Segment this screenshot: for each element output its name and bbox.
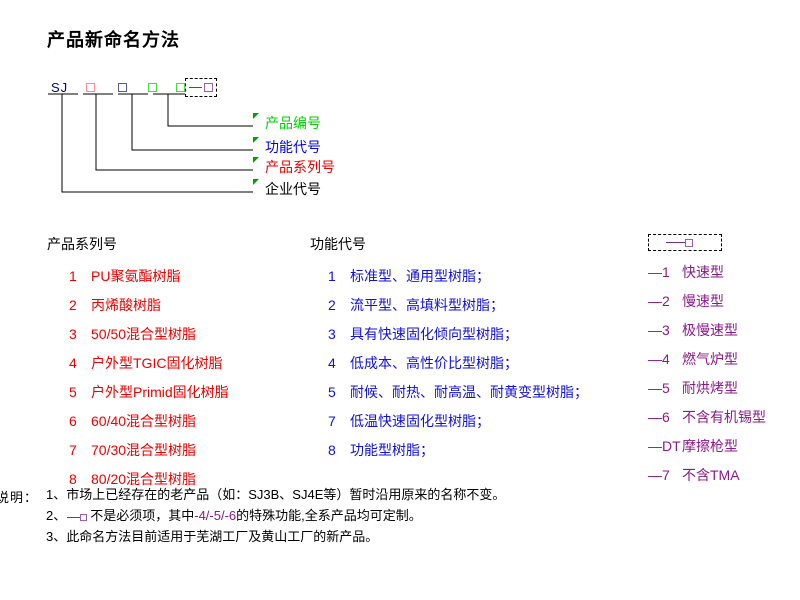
item-number: 1 [69,268,91,284]
list-item: —6 不含有机锡型 [648,407,766,436]
optional-list: —1 快速型 —2 慢速型 —3 极慢速型 —4 燃气炉型 —5 耐烘烤型 —6… [648,262,766,494]
column-product-series: 产品系列号 1 PU聚氨酯树脂 2 丙烯酸树脂 3 50/50混合型树脂 4 户… [47,234,229,498]
leader-label-product-series: 产品系列号 [265,157,335,177]
leader-label-enterprise-code: 企业代号 [265,179,321,199]
footnote-text: 不是必须项，其中 [90,508,194,523]
footnote-text-tail: 的特殊功能,全系产品均可定制。 [236,508,422,523]
item-text: 不含TMA [682,465,740,485]
item-text: 70/30混合型树脂 [91,440,196,460]
item-text: 户外型Primid固化树脂 [91,382,229,402]
item-text: PU聚氨酯树脂 [91,266,180,286]
list-item: 4 户外型TGIC固化树脂 [47,353,229,382]
item-text: 不含有机锡型 [682,407,766,427]
list-item: —5 耐烘烤型 [648,378,766,407]
product-no-slot-2 [176,83,185,92]
item-text: 极慢速型 [682,320,738,340]
list-item: 5 耐候、耐热、耐高温、耐黄变型树脂； [310,382,588,411]
item-number: 7 [69,442,91,458]
item-number: —5 [648,380,682,396]
item-text: 低温快速固化型树脂； [350,411,490,431]
item-number: 6 [69,413,91,429]
optional-slot [204,83,213,92]
column-header-optional-symbol [648,234,722,251]
series-list: 1 PU聚氨酯树脂 2 丙烯酸树脂 3 50/50混合型树脂 4 户外型TGIC… [47,266,229,498]
item-text: 耐候、耐热、耐高温、耐黄变型树脂； [350,382,588,402]
product-no-slot-1 [148,83,157,92]
item-number: —2 [648,293,682,309]
item-text: 功能型树脂； [350,440,434,460]
list-item: —DT 摩擦枪型 [648,436,766,465]
flag-marker-icon [253,157,259,163]
list-item: 2 流平型、高填料型树脂； [310,295,588,324]
column-header-function-code: 功能代号 [310,234,588,254]
list-item: 7 70/30混合型树脂 [47,440,229,469]
footnote-row: 2、不是必须项，其中-4/-5/-6的特殊功能,全系产品均可定制。 [46,505,800,526]
dash-mark [666,242,685,243]
item-text: 标准型、通用型树脂； [350,266,490,286]
item-number: —7 [648,467,682,483]
footnote-highlight: -4/-5/-6 [194,508,236,523]
footnote-text: 市场上已经存在的老产品（如：SJ3B、SJ4E等）暂时沿用原来的名称不变。 [66,487,505,502]
dash-mark [189,87,202,88]
item-text: 户外型TGIC固化树脂 [91,353,222,373]
item-text: 50/50混合型树脂 [91,324,196,344]
list-item: 1 标准型、通用型树脂； [310,266,588,295]
item-text: 耐烘烤型 [682,378,738,398]
flag-marker-icon [253,179,259,185]
item-number: —3 [648,322,682,338]
optional-slot-frame [185,78,217,97]
list-item: —2 慢速型 [648,291,766,320]
item-text: 60/40混合型树脂 [91,411,196,431]
footnote-row: 3、此命名方法目前适用于芜湖工厂及黄山工厂的新产品。 [46,526,800,547]
leader-label-function-code: 功能代号 [265,137,321,157]
list-item: 6 60/40混合型树脂 [47,411,229,440]
item-text: 快速型 [682,262,724,282]
item-text: 摩擦枪型 [682,436,738,456]
list-item: 5 户外型Primid固化树脂 [47,382,229,411]
list-item: 7 低温快速固化型树脂； [310,411,588,440]
column-optional-suffix: —1 快速型 —2 慢速型 —3 极慢速型 —4 燃气炉型 —5 耐烘烤型 —6… [648,234,766,494]
footnote-number: 3、 [46,529,66,544]
list-item: 4 低成本、高性价比型树脂； [310,353,588,382]
item-text: 低成本、高性价比型树脂； [350,353,518,373]
list-item: 8 功能型树脂； [310,440,588,469]
item-text: 具有快速固化倾向型树脂； [350,324,518,344]
list-item: 1 PU聚氨酯树脂 [47,266,229,295]
footnote-row: 1、市场上已经存在的老产品（如：SJ3B、SJ4E等）暂时沿用原来的名称不变。 [46,484,800,505]
item-number: —1 [648,264,682,280]
item-number: 2 [69,297,91,313]
dash-square-icon [67,512,89,522]
list-item: 2 丙烯酸树脂 [47,295,229,324]
item-number: 3 [328,326,350,342]
optional-slot-mini [685,239,693,247]
item-text: 燃气炉型 [682,349,738,369]
item-number: 1 [328,268,350,284]
series-slot [86,83,95,92]
naming-structure-diagram: SJ 产品编号 功能代号 产品系列号 企业代号 [0,0,800,220]
item-number: 5 [69,384,91,400]
footnotes-label: 说明： [0,487,38,506]
flag-marker-icon [253,137,259,143]
footnotes-list: 1、市场上已经存在的老产品（如：SJ3B、SJ4E等）暂时沿用原来的名称不变。 … [46,484,800,547]
item-number: 7 [328,413,350,429]
footnote-number: 2、 [46,508,66,523]
list-item: —4 燃气炉型 [648,349,766,378]
flag-marker-icon [253,113,259,119]
connector-lines [0,0,800,220]
list-item: 3 50/50混合型树脂 [47,324,229,353]
item-number: 2 [328,297,350,313]
item-number: 3 [69,326,91,342]
column-header-product-series: 产品系列号 [47,234,229,254]
item-text: 慢速型 [682,291,724,311]
list-item: 3 具有快速固化倾向型树脂； [310,324,588,353]
list-item: —1 快速型 [648,262,766,291]
footnote-text: 此命名方法目前适用于芜湖工厂及黄山工厂的新产品。 [66,529,378,544]
item-number: —4 [648,351,682,367]
item-number: 4 [328,355,350,371]
item-text: 丙烯酸树脂 [91,295,161,315]
item-text: 流平型、高填料型树脂； [350,295,504,315]
function-list: 1 标准型、通用型树脂； 2 流平型、高填料型树脂； 3 具有快速固化倾向型树脂… [310,266,588,469]
column-function-code: 功能代号 1 标准型、通用型树脂； 2 流平型、高填料型树脂； 3 具有快速固化… [310,234,588,469]
prefix-token-sj: SJ [51,80,68,95]
function-slot [118,83,127,92]
item-number: 5 [328,384,350,400]
item-number: 8 [328,442,350,458]
footnote-number: 1、 [46,487,66,502]
item-number: —DT [648,438,682,454]
list-item: —3 极慢速型 [648,320,766,349]
leader-label-product-number: 产品编号 [265,113,321,133]
footnotes: 说明： 1、市场上已经存在的老产品（如：SJ3B、SJ4E等）暂时沿用原来的名称… [0,484,800,547]
item-number: —6 [648,409,682,425]
item-number: 4 [69,355,91,371]
